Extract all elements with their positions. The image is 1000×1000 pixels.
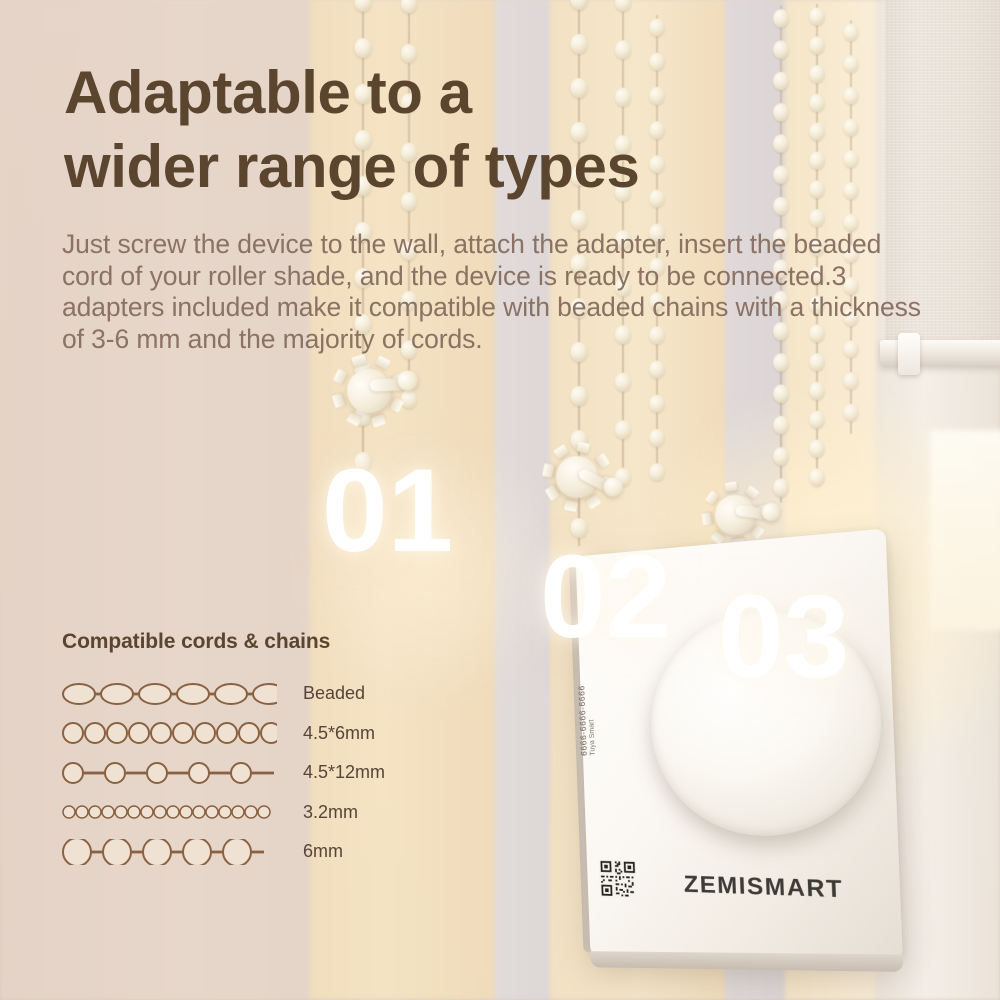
brand-logo: ZEMISMART	[683, 870, 843, 903]
chain-oval-linked-icon	[62, 681, 277, 707]
chain-bead	[773, 447, 789, 465]
page-title: Adaptable to a wider range of types	[64, 56, 784, 204]
chain-bead	[401, 0, 417, 14]
chain-bead	[773, 9, 789, 27]
gear-tooth	[371, 414, 387, 428]
legend-row: 4.5*12mm	[62, 753, 482, 793]
gear-hub	[341, 363, 396, 418]
chain-bead	[844, 150, 859, 168]
gear-tooth	[702, 512, 713, 525]
chain-bead	[773, 353, 789, 371]
chain-bead	[809, 65, 824, 83]
step-number-03: 03	[718, 578, 849, 696]
legend-row-list: Beaded4.5*6mm4.5*12mm3.2mm6mm	[62, 674, 482, 872]
chain-bead	[844, 119, 859, 137]
gear-tooth	[542, 464, 554, 478]
description-text: Just screw the device to the wall, attac…	[62, 229, 922, 355]
device-model: Tuya Smart	[588, 719, 596, 755]
chain-bead	[649, 19, 664, 37]
chain-bead	[615, 420, 631, 439]
legend-label: 6mm	[303, 841, 343, 862]
chain-bead	[649, 463, 664, 481]
chain-bead	[809, 36, 824, 54]
chain-bead	[809, 180, 824, 198]
gear-tooth	[745, 485, 760, 499]
chain-bead	[809, 468, 824, 486]
compatible-cords-legend: Compatible cords & chains Beaded4.5*6mm4…	[62, 630, 482, 872]
chain-bead	[615, 0, 631, 12]
chain-bead	[809, 411, 824, 429]
chain-bead	[649, 429, 664, 447]
chain-bead	[773, 416, 789, 434]
chain-bead	[571, 0, 588, 10]
chain-bead	[809, 353, 824, 371]
headline-line-2: wider range of types	[64, 130, 784, 204]
chain-bead	[809, 8, 824, 26]
chain-bead	[649, 395, 664, 413]
chain-bead	[355, 38, 372, 58]
gear-tooth	[585, 495, 601, 510]
chain-bead	[773, 385, 789, 403]
gear-tooth	[346, 412, 362, 427]
chain-bead	[649, 361, 664, 379]
gear-tooth	[544, 485, 559, 501]
gear-adapter-icon	[533, 433, 621, 521]
gear-tooth	[390, 397, 405, 413]
gear-tooth	[576, 442, 590, 454]
chain-bead	[844, 55, 859, 73]
legend-row: 3.2mm	[62, 793, 482, 833]
chain-bead	[809, 382, 824, 400]
chain-large-round-icon	[62, 839, 277, 865]
chain-round-spaced-icon	[62, 760, 277, 786]
chain-bead	[571, 386, 588, 406]
qr-code-icon	[598, 855, 637, 903]
chain-bead	[615, 373, 631, 392]
chain-micro-beads-icon	[62, 799, 277, 825]
chain-bead	[355, 0, 372, 12]
chain-bead	[809, 94, 824, 112]
chain-bead	[844, 87, 859, 105]
gear-tooth	[375, 355, 391, 370]
chain-bead	[844, 24, 859, 42]
legend-label: 4.5*6mm	[303, 723, 375, 744]
product-marketing-image: 6666-6666-6666 Tuya Smart ZEMISMART Adap…	[0, 0, 1000, 1000]
gear-tooth	[725, 482, 738, 493]
window-light	[930, 430, 1000, 630]
gear-tooth	[332, 393, 346, 409]
legend-label: 3.2mm	[303, 802, 358, 823]
gear-tooth	[333, 368, 348, 384]
legend-row: Beaded	[62, 674, 482, 714]
chain-bead	[809, 440, 824, 458]
legend-row: 6mm	[62, 832, 482, 872]
gear-tooth	[750, 525, 764, 540]
chain-bead	[571, 210, 588, 230]
legend-title: Compatible cords & chains	[62, 630, 482, 654]
gear-tooth	[351, 354, 367, 368]
chain-bead	[844, 372, 859, 390]
chain-bead	[571, 34, 588, 54]
step-number-02: 02	[540, 538, 671, 656]
gear-tooth	[564, 500, 578, 512]
chain-bead	[773, 478, 789, 496]
chain-bead	[844, 404, 859, 422]
legend-row: 4.5*6mm	[62, 714, 482, 754]
legend-label: Beaded	[303, 683, 365, 704]
gear-tooth	[553, 444, 569, 459]
chain-round-touching-icon	[62, 720, 277, 746]
legend-label: 4.5*12mm	[303, 762, 385, 783]
gear-tooth	[595, 453, 610, 469]
chain-bead	[809, 152, 824, 170]
chain-bead	[844, 182, 859, 200]
headline-line-1: Adaptable to a	[64, 56, 784, 130]
step-number-01: 01	[322, 452, 453, 570]
beaded-chain-icon	[841, 20, 860, 434]
chain-bead	[809, 123, 824, 141]
chain-bead	[809, 209, 824, 227]
device-serial: 6666-6666-6666	[576, 685, 588, 756]
